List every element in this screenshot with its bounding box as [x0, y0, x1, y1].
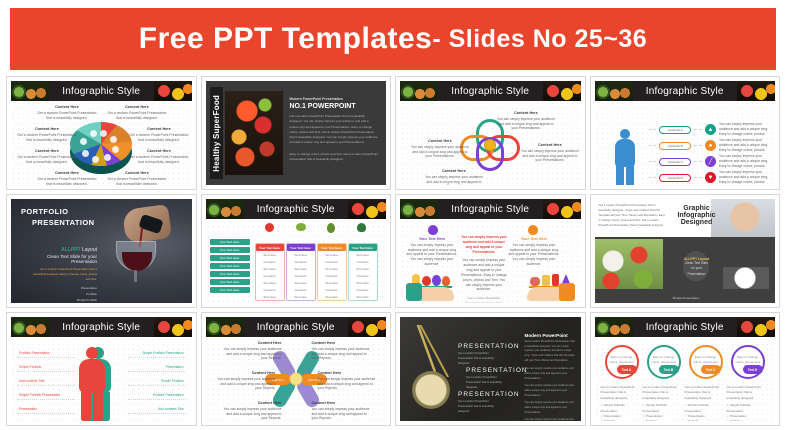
slide-8-title-line3: Designed [673, 219, 721, 226]
slide-9-body: Portfolio Presentation Simple Portfolio … [11, 337, 192, 421]
right-line-3 [128, 385, 186, 386]
pill-label: Contents C [668, 160, 683, 164]
bullet-item: Portfolio [688, 419, 699, 421]
salad-photo [595, 239, 663, 289]
connector-line [649, 129, 657, 130]
oat-stalk-photo [406, 325, 452, 377]
slide-11-right-body: Get a modern PowerPoint Presentation tha… [525, 340, 577, 363]
table-column-1: Your Text Here Text Here Contents Text H… [255, 243, 285, 301]
table-cell: Text Here [287, 279, 315, 286]
slide-11-bullet-3: You can simply impress your audience and… [525, 401, 577, 415]
cabbage-icon [296, 223, 306, 231]
slide-5-sub-block: ALLPPT Layout Clean Text Slide for your … [31, 247, 97, 303]
slide-4-body: Contents A ▲ You can simply impress your… [595, 101, 776, 185]
slide-thumbnail-3[interactable]: Infographic Style Content HereYou can si… [395, 76, 586, 190]
slide-6-canvas: Infographic Style Your Text Here Your Te… [206, 199, 387, 303]
pen-icon: ╱ [705, 156, 716, 167]
citrus-photo-icon [543, 199, 581, 219]
left-line-2 [17, 371, 75, 372]
slide-1-label-2: Content HereGet a modern PowerPoint Pres… [107, 105, 167, 120]
slide-thumbnail-2[interactable]: Healthy SuperFood Modern PowerPoint Pres… [201, 76, 392, 190]
slide-thumbnail-5[interactable]: PORTFOLIO PRESENTATION ALLPPT Layout Cle… [6, 194, 197, 308]
avocado-photo-icon [400, 199, 438, 219]
table-cell: Contents [349, 286, 377, 293]
bullet-item: Simple Portfolio Presentation [601, 403, 625, 412]
slide-11-canvas: PRESENTATION Get a modern PowerPoint Pre… [400, 317, 581, 421]
slide-thumbnail-6[interactable]: Infographic Style Your Text Here Your Te… [201, 194, 392, 308]
figure-leg-left [81, 392, 91, 421]
right-line-5 [128, 413, 186, 414]
slide-2-footer: Easy to change colors, photos and Text. … [290, 152, 379, 163]
table-cell: Contents [256, 258, 284, 265]
slide-12-canvas: Infographic Style Easy to Change colors,… [595, 317, 776, 421]
bullet-item: Simple Portfolio Presentation [643, 403, 667, 412]
allppt-accent: ALLPPT [61, 247, 80, 253]
slide-5-sub-line1: Layout [81, 247, 97, 253]
table-column-2: Your Text Here Text Here Contents Text H… [286, 243, 316, 301]
list-item: Simple Portfolio [31, 298, 97, 303]
table-cell: Contents [349, 258, 377, 265]
desc-text: Get a modern PowerPoint Presentation tha… [643, 385, 683, 401]
slide-4-row-2: Contents B ● You can simply impress your… [649, 139, 772, 152]
label-body: Get a modern PowerPoint Presentation tha… [37, 177, 96, 185]
wine-glass-photo [116, 241, 156, 285]
pie-icon-2 [110, 136, 117, 143]
slide-4-row-3: Contents C ╱ You can simply impress your… [649, 155, 772, 168]
avocado-photo-icon [11, 317, 49, 337]
table-cell: Contents [287, 272, 315, 279]
burger-icon [530, 277, 540, 286]
slide-4-row-4: Contents D ▼ You can simply impress your… [649, 171, 772, 184]
desc-block-1: Get a modern PowerPoint Presentation tha… [601, 385, 641, 421]
superfood-sidebar: Healthy SuperFood [210, 87, 223, 179]
tomato-icon [422, 276, 431, 286]
slide-1-canvas: Infographic Style [11, 81, 192, 185]
left-label-3: Add contents Title [19, 379, 44, 383]
table-cell: Contents [287, 286, 315, 293]
slide-1-title: Infographic Style [62, 86, 140, 97]
right-body: You can simply impress your audience and… [509, 243, 560, 267]
citrus-photo-icon [348, 317, 386, 337]
slide-3-title: Infographic Style [451, 86, 529, 97]
slide-7-center-block: You can simply impress your audience and… [460, 235, 508, 303]
slide-2-headline: NO.1 POWERPOINT [290, 103, 379, 110]
citrus-photo-icon [543, 81, 581, 101]
bullet-item: Presentation [688, 414, 705, 418]
presentation-sub: Get a modern PowerPoint Presentation tha… [458, 352, 504, 367]
row-label-2: Your Text Here [210, 247, 250, 253]
figure-body [79, 359, 105, 393]
bullet-item: Portfolio [730, 419, 741, 421]
right-hand-illustration [527, 271, 573, 301]
slide-5-title-block: PORTFOLIO PRESENTATION [21, 207, 94, 227]
slide-thumbnail-1[interactable]: Infographic Style [6, 76, 197, 190]
slide-10-label-1: Content HereYou can simply impress your … [222, 341, 282, 361]
slide-5-title-line1: PORTFOLIO [21, 207, 94, 216]
left-line-5 [17, 413, 75, 414]
up-arrow-icon: ▲ [705, 124, 716, 135]
slide-3-label-2: Content HereYou can simply impress your … [410, 139, 470, 159]
figure-leg-right [93, 392, 103, 421]
figure-head [86, 347, 98, 359]
right-label-2: Presentation [166, 365, 184, 369]
label-body: Get a modern PowerPoint Presentation tha… [17, 133, 76, 142]
slide-6-title: Infographic Style [257, 204, 335, 215]
glass-bowl [116, 241, 156, 271]
table-cell: Text Here [349, 265, 377, 272]
slide-5-list: Presentation Portfolio Simple Portfolio … [31, 286, 97, 303]
table-cell: Text Here [256, 265, 284, 272]
left-label-4: Simple Portfolio Presentation [19, 393, 60, 397]
slide-1-label-8: Content HereGet a modern PowerPoint Pres… [107, 171, 167, 185]
right-label-5: Add contents Title [158, 407, 183, 411]
left-sleeve [406, 283, 422, 301]
avocado-photo-icon [595, 81, 633, 101]
row-body: You can simply impress your audience and… [719, 154, 771, 169]
slide-3-body: Content HereYou can simply impress your … [400, 101, 581, 185]
left-line-1 [17, 357, 75, 358]
table-cell: Text Here [349, 279, 377, 286]
drop-icon: ● [705, 140, 716, 151]
row-body: You can simply impress your audience and… [719, 170, 771, 185]
slide-3-canvas: Infographic Style Content HereYou can si… [400, 81, 581, 185]
gallery-page: Free PPT Templates - Slides No 25~36 Inf… [0, 0, 786, 430]
circle-1-badge: Text A [617, 365, 637, 374]
pie-icon-8 [90, 130, 97, 137]
row-label-1: Your Text Here [210, 239, 250, 245]
table-cell: Contents [318, 272, 346, 279]
slide-10-label-5: Content HereYou can simply impress your … [222, 401, 282, 421]
connector-line [649, 145, 657, 146]
label-body: Get a modern PowerPoint Presentation tha… [107, 177, 166, 185]
pie-icon-5 [92, 156, 99, 163]
table-cell: Contents [256, 272, 284, 279]
citrus-photo-icon [737, 317, 775, 337]
slide-11-bullet-4: You can simply impress your audience and… [525, 418, 577, 421]
connector-line [694, 129, 702, 130]
table-cell: Text Here [318, 279, 346, 286]
slide-2-body: Get a modern PowerPoint Presentation tha… [290, 114, 379, 146]
purple-drop-icon [428, 225, 438, 235]
slide-11-bullet-1: You can simply impress your audience and… [525, 367, 577, 381]
salmon-platter-photo [225, 91, 283, 175]
desc-block-2: Get a modern PowerPoint Presentation tha… [643, 385, 683, 421]
column-header: Your Text Here [256, 244, 284, 251]
presentation-sub: Get a modern PowerPoint Presentation tha… [458, 400, 504, 415]
label-body: You can simply impress your audience and… [425, 175, 483, 185]
label-body: Get a modern PowerPoint Presentation tha… [17, 155, 76, 164]
pie-top [70, 122, 132, 166]
figure-red [77, 347, 107, 421]
figure-torso [615, 139, 635, 167]
table-cell: Contents [256, 286, 284, 293]
globe-icon [484, 139, 496, 151]
figure-head [620, 129, 630, 139]
bullet-item: Presentation [604, 414, 621, 418]
desc-block-3: Get a modern PowerPoint Presentation tha… [685, 385, 725, 421]
right-label-1: Simple Portfolio Presentation [142, 351, 183, 355]
slide-thumbnail-10[interactable]: Infographic Style Add Text Add Text [201, 312, 392, 426]
header-banner: Free PPT Templates - Slides No 25~36 [10, 8, 776, 70]
pie-icon-6 [82, 150, 89, 157]
citrus-photo-icon [348, 199, 386, 219]
slide-12-title: Infographic Style [646, 322, 724, 333]
slide-thumbnail-7[interactable]: Infographic Style Your Text HereYou can … [395, 194, 586, 308]
right-line-4 [128, 399, 186, 400]
tomato-icon [265, 223, 274, 232]
left-line-3 [17, 385, 75, 386]
left-body: You can simply impress your audience and… [407, 243, 458, 267]
row-label-7: Your Text Here [210, 287, 250, 293]
pie-icon-7 [80, 138, 87, 145]
table-cell: Text Here [318, 251, 346, 258]
wine-liquid [122, 252, 152, 271]
slide-1-label-4: Content HereGet a modern PowerPoint Pres… [129, 127, 189, 142]
slide-10-label-6: Content HereYou can simply impress your … [312, 401, 372, 421]
column-header: Your Text Here [318, 244, 346, 251]
slide-thumbnail-11[interactable]: PRESENTATION Get a modern PowerPoint Pre… [395, 312, 586, 426]
content-pill: Contents A [659, 126, 691, 134]
pie-icon-3 [112, 146, 119, 153]
glass-stem [134, 270, 137, 282]
slide-10-canvas: Infographic Style Add Text Add Text [206, 317, 387, 421]
bullet-item: Simple Portfolio Presentation [685, 403, 709, 412]
desc-block-4: Get a modern PowerPoint Presentation tha… [727, 385, 767, 421]
table-cell: Text Here [318, 293, 346, 300]
slide-12-body: Easy to Change colors, photos and Text. … [595, 337, 776, 421]
overlay-line: Presentation [675, 272, 719, 277]
right-sleeve [559, 283, 575, 301]
table-cell: Text Here [287, 251, 315, 258]
presentation-label: PRESENTATION [466, 367, 528, 374]
broccoli-icon [357, 223, 366, 232]
table-cell: Contents [318, 286, 346, 293]
slide-11-block-2: PRESENTATION Get a modern PowerPoint Pre… [466, 367, 528, 391]
avocado-photo-icon [400, 81, 438, 101]
table-cell: Text Here [256, 251, 284, 258]
slide-1-label-6: Content HereGet a modern PowerPoint Pres… [129, 149, 189, 164]
slide-9-canvas: Infographic Style [11, 317, 192, 421]
center-footer: Get a modern PowerPoint Presentation tha… [460, 296, 508, 303]
row-label-6: Your Text Here [210, 279, 250, 285]
down-arrow-icon: ▼ [705, 172, 716, 183]
presentation-label: PRESENTATION [458, 391, 520, 398]
circle-3-badge: Text C [701, 365, 721, 374]
slide-7-right-block: Your Text HereYou can simply impress you… [508, 237, 560, 267]
table-cell: Text Here [287, 293, 315, 300]
slide-11-bullet-2: You can simply impress your audience and… [525, 384, 577, 398]
connector-line [694, 145, 702, 146]
connector-line [694, 177, 702, 178]
slide-thumbnail-4[interactable]: Infographic Style Contents A [590, 76, 781, 190]
citrus-photo-icon [154, 81, 192, 101]
banner-subtitle: - Slides No 25~36 [432, 25, 647, 54]
chef-plate-photo [723, 267, 769, 289]
avocado-photo-icon [595, 317, 633, 337]
avocado-icon [327, 223, 335, 233]
slide-3-label-1: Content HereYou can simply impress your … [496, 111, 556, 131]
human-figure-icon [613, 129, 637, 185]
slide-thumbnail-12[interactable]: Infographic Style Easy to Change colors,… [590, 312, 781, 426]
pill-label: Contents A [668, 128, 683, 132]
slide-10-label-2: Content HereYou can simply impress your … [312, 341, 372, 361]
pill-label: Contents D [668, 176, 683, 180]
label-body: Get a modern PowerPoint Presentation tha… [107, 111, 166, 120]
left-label-5: Presentation [19, 407, 37, 411]
slide-7-title: Infographic Style [451, 204, 529, 215]
slide-8-canvas: Get a modern PowerPoint Presentation tha… [595, 199, 776, 303]
slide-5-canvas: PORTFOLIO PRESENTATION ALLPPT Layout Cle… [11, 199, 192, 303]
table-column-3: Your Text Here Text Here Contents Text H… [317, 243, 347, 301]
presentation-sub: Get a modern PowerPoint Presentation tha… [466, 376, 512, 391]
grapes-icon [432, 275, 441, 286]
slide-7-body: Your Text HereYou can simply impress you… [400, 219, 581, 303]
table-cell: Contents [318, 258, 346, 265]
carrot-icon [442, 276, 450, 286]
content-pill: Contents B [659, 142, 691, 150]
avocado-photo-icon [11, 81, 49, 101]
pie-icon-1 [100, 130, 107, 137]
soda-icon [552, 274, 559, 286]
slide-3-label-3: Content HereYou can simply impress your … [520, 143, 580, 163]
desc-text: Get a modern PowerPoint Presentation tha… [685, 385, 725, 401]
label-body: You can simply impress your audience and… [497, 117, 555, 131]
right-line-1 [128, 357, 186, 358]
label-body: Get a modern PowerPoint Presentation tha… [37, 111, 96, 120]
citrus-photo-icon [737, 81, 775, 101]
citrus-photo-icon [154, 317, 192, 337]
row-body: You can simply impress your audience and… [719, 122, 771, 137]
slide-9-title: Infographic Style [62, 322, 140, 333]
row-body: You can simply impress your audience and… [719, 138, 771, 153]
slide-thumbnail-9[interactable]: Infographic Style [6, 312, 197, 426]
slide-6-body: Your Text Here Your Text Here Your Text … [206, 219, 387, 303]
pill-label: Contents B [668, 144, 683, 148]
table-cell: Text Here [318, 265, 346, 272]
table-cell: Text Here [287, 265, 315, 272]
slide-8-body: Get a modern PowerPoint Presentation tha… [599, 203, 667, 228]
bullet-item: Portfolio [646, 419, 657, 421]
slide-11-right-block: Modern PowerPoint Get a modern PowerPoin… [525, 333, 577, 421]
slide-3-label-4: Content HereYou can simply impress your … [424, 169, 484, 185]
label-body: You can simply impress your audience and… [411, 145, 469, 159]
avocado-photo-icon [206, 199, 244, 219]
slide-11-block-1: PRESENTATION Get a modern PowerPoint Pre… [458, 343, 520, 367]
slide-1-label-1: Content HereGet a modern PowerPoint Pres… [37, 105, 97, 120]
slide-2-eyebrow: Modern PowerPoint Presentation [290, 97, 379, 101]
slide-1-label-3: Content HereGet a modern PowerPoint Pres… [17, 127, 77, 142]
slide-thumbnail-8[interactable]: Get a modern PowerPoint Presentation tha… [590, 194, 781, 308]
circle-2-badge: Text B [659, 365, 679, 374]
row-label-4: Your Text Here [210, 263, 250, 269]
orange-drop-icon [528, 225, 538, 235]
slide-7-canvas: Infographic Style Your Text HereYou can … [400, 199, 581, 303]
slide-8-title-line2: Infographic [673, 212, 721, 219]
column-header: Your Text Here [287, 244, 315, 251]
bullet-item: Presentation [730, 414, 747, 418]
figure-leg-left [616, 166, 624, 185]
bullet-item: Simple Portfolio Presentation [727, 403, 751, 412]
left-label-2: Simple Portfolio [19, 365, 41, 369]
right-line-2 [128, 371, 186, 372]
slide-10-title: Infographic Style [257, 322, 335, 333]
slide-1-body: Content HereGet a modern PowerPoint Pres… [11, 101, 192, 185]
table-cell: Contents [287, 258, 315, 265]
slide-1-label-5: Content HereGet a modern PowerPoint Pres… [17, 149, 77, 164]
fries-icon [542, 275, 550, 286]
content-pill: Contents D [659, 174, 691, 182]
superfood-sidebar-text: Healthy SuperFood [212, 95, 221, 172]
slide-7-left-block: Your Text HereYou can simply impress you… [406, 237, 458, 267]
avocado-photo-icon [206, 317, 244, 337]
left-label-1: Portfolio Presentation [19, 351, 49, 355]
slide-8-title-block: Graphic Infographic Designed [673, 205, 721, 226]
presentation-label: PRESENTATION [458, 343, 520, 350]
slide-10-body: Add Text Add Text Content HereYou can si… [206, 337, 387, 421]
slide-11-right-title: Modern PowerPoint [525, 333, 577, 338]
slide-8-footer: Simple Presentation [673, 296, 700, 300]
slide-8-title-line1: Graphic [673, 205, 721, 212]
left-hand-illustration [408, 271, 454, 301]
row-label-3: Your Text Here [210, 255, 250, 261]
bullet-item: Presentation [646, 414, 663, 418]
row-label-5: Your Text Here [210, 271, 250, 277]
desc-text: Get a modern PowerPoint Presentation tha… [727, 385, 767, 401]
column-header: Your Text Here [349, 244, 377, 251]
connector-line [649, 161, 657, 162]
slide-10-label-3: Content HereYou can simply impress your … [216, 371, 276, 391]
banner-main-title: Free PPT Templates [139, 22, 433, 56]
pie-icon-4 [104, 154, 111, 161]
figure-leg-right [626, 166, 634, 185]
slide-8-overlay-block: ALLPPT Layout Clean Text Slide for your … [675, 257, 719, 277]
table-cell: Text Here [256, 293, 284, 300]
slide-2-canvas: Healthy SuperFood Modern PowerPoint Pres… [206, 81, 387, 185]
center-body: You can simply impress your audience and… [460, 258, 508, 293]
table-cell: Text Here [349, 251, 377, 258]
table-cell: Contents [349, 272, 377, 279]
slide-4-row-1: Contents A ▲ You can simply impress your… [649, 123, 772, 136]
bullet-item: Portfolio [604, 419, 615, 421]
slide-grid: Infographic Style [6, 76, 780, 426]
center-heading: You can simply impress your audience and… [460, 235, 508, 255]
slide-11-block-3: PRESENTATION Get a modern PowerPoint Pre… [458, 391, 520, 415]
slide-2-text-block: Modern PowerPoint Presentation NO.1 POWE… [290, 97, 379, 162]
label-body: Get a modern PowerPoint Presentation tha… [129, 133, 188, 142]
label-body: Get a modern PowerPoint Presentation tha… [129, 155, 188, 164]
table-column-4: Your Text Here Text Here Contents Text H… [348, 243, 378, 301]
oat-bowl-photo [412, 371, 450, 409]
slide-1-label-7: Content HereGet a modern PowerPoint Pres… [37, 171, 97, 185]
desc-text: Get a modern PowerPoint Presentation tha… [601, 385, 641, 401]
right-label-3: Simple Portfolio [161, 379, 183, 383]
slide-4-canvas: Infographic Style Contents A [595, 81, 776, 185]
label-body: You can simply impress your audience and… [521, 149, 579, 163]
slide-4-title: Infographic Style [646, 86, 724, 97]
slide-10-label-4: Content HereYou can simply impress your … [318, 371, 378, 391]
table-cell: Text Here [349, 293, 377, 300]
connector-line [694, 161, 702, 162]
slide-5-sub-line3: Presentation [31, 259, 97, 264]
content-pill: Contents C [659, 158, 691, 166]
table-cell: Text Here [256, 279, 284, 286]
bulb-icon [289, 373, 302, 386]
slide-5-orange-note: Get a modern PowerPoint Presentation tha… [31, 267, 97, 281]
right-label-4: Portfolio Presentation [153, 393, 183, 397]
connector-line [649, 177, 657, 178]
left-line-4 [17, 399, 75, 400]
circle-4-badge: Text D [743, 365, 763, 374]
